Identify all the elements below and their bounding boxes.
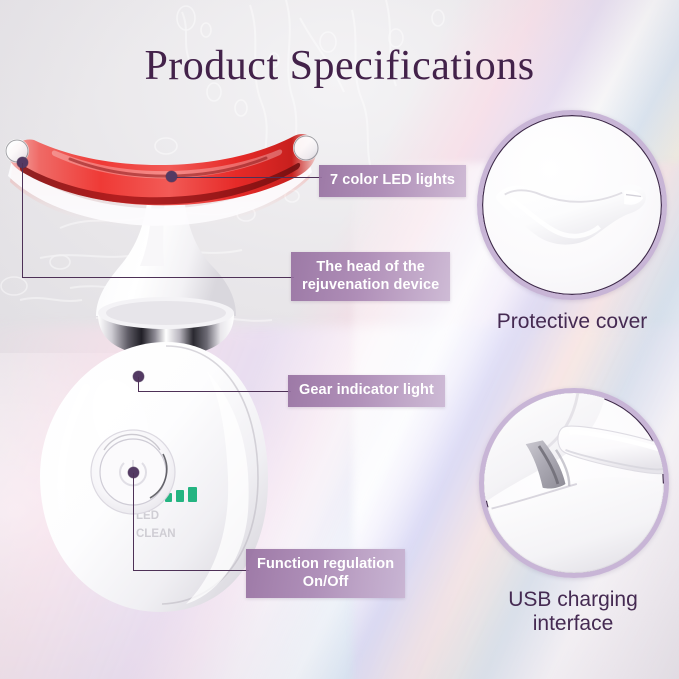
callout-label-gear-indicator[interactable]: Gear indicator light [288,375,445,407]
product-device-illustration: LEV LED CLEAN [0,120,330,620]
leader-line-led [172,177,322,178]
callout-label-led-lights[interactable]: 7 color LED lights [319,165,466,197]
leader-line-gear-horizontal [138,391,291,392]
leader-line-head-vertical [22,163,23,278]
callout-label-device-head[interactable]: The head of the rejuvenation device [291,252,450,301]
svg-text:CLEAN: CLEAN [136,528,176,540]
protective-cover-image [482,115,662,295]
infographic-canvas: Product Specifications [0,0,679,679]
leader-line-function-vertical [133,473,134,571]
leader-line-gear-vertical [138,377,139,392]
inset-label-protective-cover: Protective cover [457,310,679,334]
callout-dot-led [166,171,177,182]
callout-label-function-button[interactable]: Function regulation On/Off [246,549,405,598]
leader-line-function-horizontal [133,570,249,571]
page-title: Product Specifications [0,42,679,90]
usb-charging-image [484,393,664,573]
inset-protective-cover[interactable] [477,110,667,300]
leader-line-head-horizontal [22,277,294,278]
inset-ring-usb-charging [479,388,669,578]
inset-usb-charging[interactable] [479,388,669,578]
inset-label-usb-charging: USB charging interface [458,588,679,637]
inset-ring-protective-cover [477,110,667,300]
